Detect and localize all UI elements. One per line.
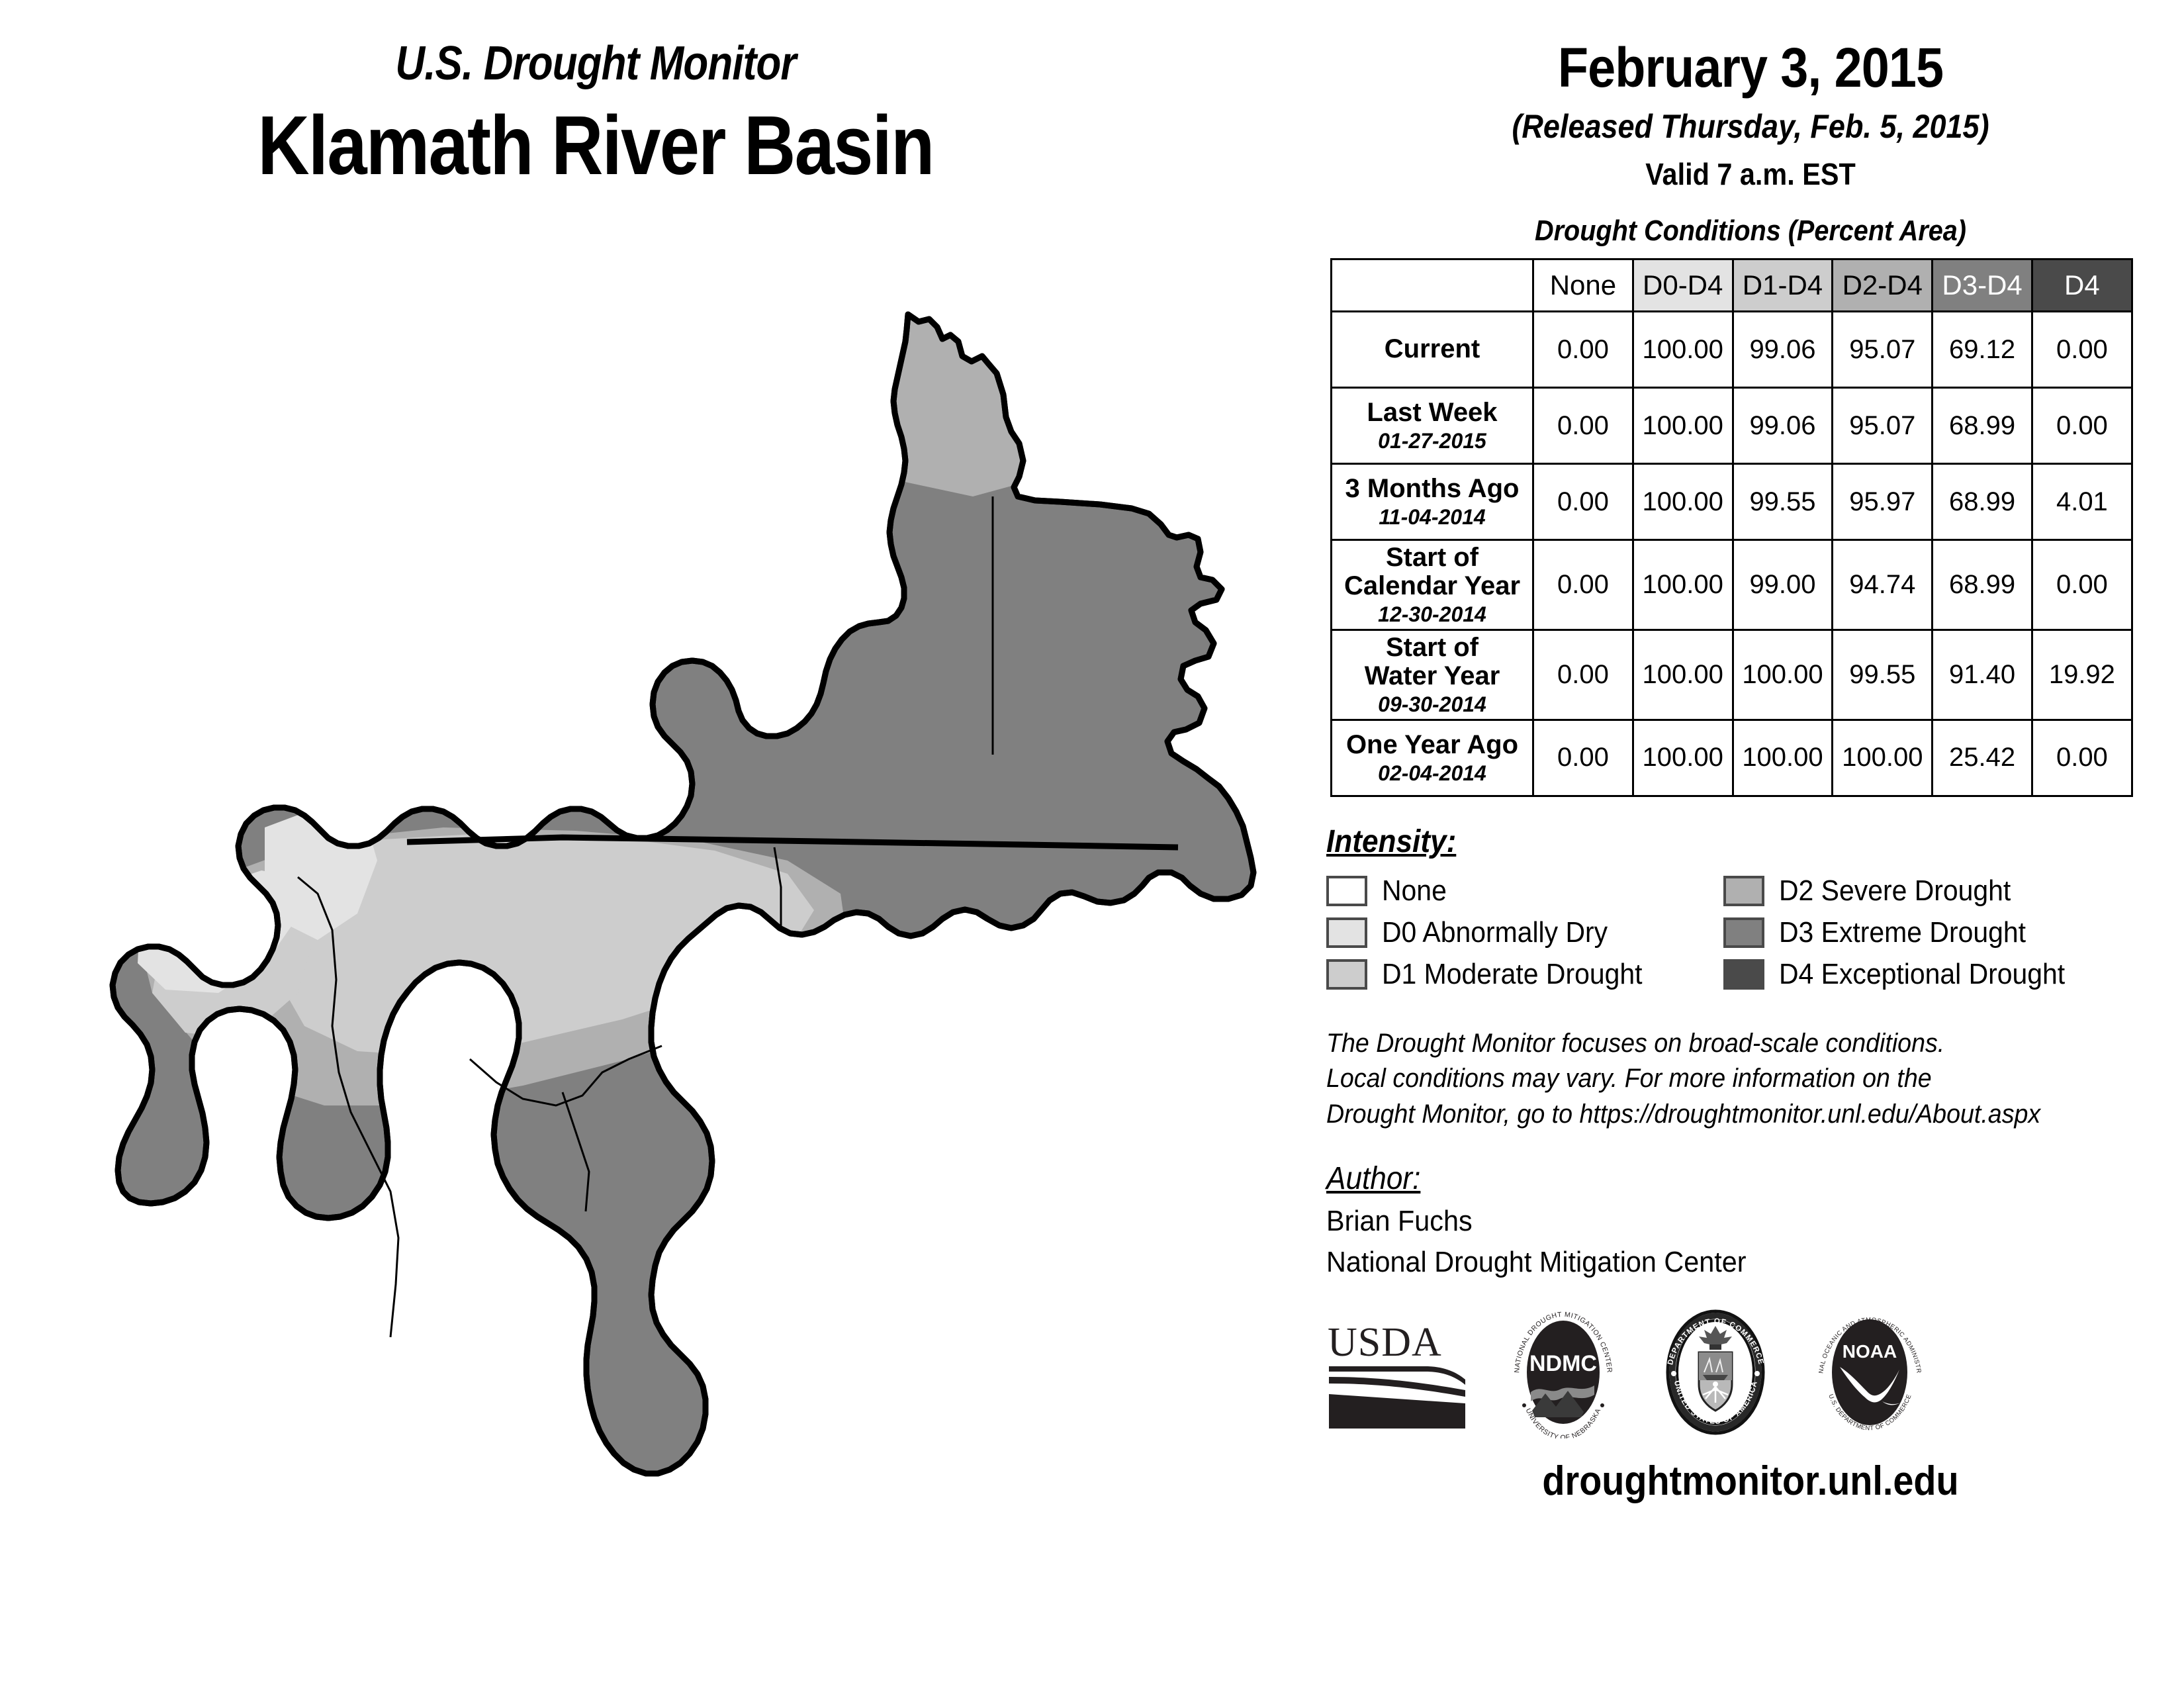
legend-swatch-d1-icon xyxy=(1326,959,1367,990)
date-block: February 3, 2015 (Released Thursday, Feb… xyxy=(1317,0,2184,189)
map-zone-d2-north xyxy=(748,308,1026,457)
table-cell-value: 68.99 xyxy=(1933,540,2032,630)
table-cell-value: 19.92 xyxy=(2032,630,2132,720)
table-cell-value: 0.00 xyxy=(1533,630,1633,720)
legend-label-none: None xyxy=(1382,874,1447,908)
table-cell-value: 100.00 xyxy=(1733,720,1833,796)
table-cell-value: 95.07 xyxy=(1833,388,1933,464)
basin-map-svg xyxy=(99,278,1310,1489)
legend-item-d4: D4 Exceptional Drought xyxy=(1723,958,2180,991)
disclaimer-line-3: Drought Monitor, go to https://droughtmo… xyxy=(1326,1097,2132,1133)
right-panel: February 3, 2015 (Released Thursday, Feb… xyxy=(1317,0,2184,1688)
table-row-date: 02-04-2014 xyxy=(1332,762,1532,785)
table-cell-value: 0.00 xyxy=(1533,720,1633,796)
legend-label-d4: D4 Exceptional Drought xyxy=(1779,958,2065,991)
table-row: One Year Ago02-04-20140.00100.00100.0010… xyxy=(1332,720,2132,796)
table-cell-value: 100.00 xyxy=(1633,540,1733,630)
legend-item-d3: D3 Extreme Drought xyxy=(1723,916,2180,949)
table-cell-value: 100.00 xyxy=(1633,720,1733,796)
column-header-d4: D4 xyxy=(2032,259,2132,312)
column-header-d1-d4: D1-D4 xyxy=(1733,259,1833,312)
table-cell-value: 25.42 xyxy=(1933,720,2032,796)
table-cell-value: 0.00 xyxy=(1533,312,1633,388)
table-row-date: 11-04-2014 xyxy=(1332,506,1532,529)
table-row: Start ofWater Year09-30-20140.00100.0010… xyxy=(1332,630,2132,720)
table-cell-value: 68.99 xyxy=(1933,464,2032,540)
legend-item-d2: D2 Severe Drought xyxy=(1723,874,2180,908)
table-cell-value: 69.12 xyxy=(1933,312,2032,388)
header-spacer xyxy=(1332,259,1533,312)
map-subtitle: U.S. Drought Monitor xyxy=(83,40,1108,87)
table-row-label: Current xyxy=(1332,312,1533,388)
table-row-date: 01-27-2015 xyxy=(1332,430,1532,453)
table-cell-value: 0.00 xyxy=(1533,540,1633,630)
table-cell-value: 0.00 xyxy=(1533,388,1633,464)
table-row-date: 09-30-2014 xyxy=(1332,693,1532,716)
released-date: (Released Thursday, Feb. 5, 2015) xyxy=(1361,110,2141,143)
author-organization: National Drought Mitigation Center xyxy=(1326,1246,2132,1279)
table-row: 3 Months Ago11-04-20140.00100.0099.5595.… xyxy=(1332,464,2132,540)
table-cell-value: 99.00 xyxy=(1733,540,1833,630)
legend-item-d1: D1 Moderate Drought xyxy=(1326,958,1723,991)
column-header-d3-d4: D3-D4 xyxy=(1933,259,2032,312)
intensity-legend-title: Intensity: xyxy=(1326,823,1456,860)
legend-swatch-d4-icon xyxy=(1723,959,1764,990)
table-row-label: Start ofWater Year09-30-2014 xyxy=(1332,630,1533,720)
drought-conditions-table: None D0-D4 D1-D4 D2-D4 D3-D4 D4 Current0… xyxy=(1330,258,2133,797)
table-cell-value: 100.00 xyxy=(1833,720,1933,796)
table-cell-value: 4.01 xyxy=(2032,464,2132,540)
table-cell-value: 99.55 xyxy=(1833,630,1933,720)
column-header-d0-d4: D0-D4 xyxy=(1633,259,1733,312)
table-cell-value: 100.00 xyxy=(1633,312,1733,388)
table-cell-value: 100.00 xyxy=(1633,464,1733,540)
table-cell-value: 99.06 xyxy=(1733,388,1833,464)
table-cell-value: 94.74 xyxy=(1833,540,1933,630)
svg-text:NOAA: NOAA xyxy=(1843,1341,1897,1362)
table-cell-value: 100.00 xyxy=(1633,630,1733,720)
noaa-logo: NATIONAL OCEANIC AND ATMOSPHERIC ADMINIS… xyxy=(1812,1306,1928,1442)
klamath-river-basin-map xyxy=(99,278,1310,1489)
legend-swatch-none-icon xyxy=(1326,876,1367,906)
author-heading: Author: xyxy=(1326,1160,1420,1197)
disclaimer-line-1: The Drought Monitor focuses on broad-sca… xyxy=(1326,1026,2132,1062)
table-header-row: None D0-D4 D1-D4 D2-D4 D3-D4 D4 xyxy=(1332,259,2132,312)
legend-swatch-d0-icon xyxy=(1326,917,1367,948)
table-row-date: 12-30-2014 xyxy=(1332,603,1532,626)
table-cell-value: 100.00 xyxy=(1733,630,1833,720)
table-cell-value: 95.97 xyxy=(1833,464,1933,540)
disclaimer-line-2: Local conditions may vary. For more info… xyxy=(1326,1061,2132,1097)
svg-text:USDA: USDA xyxy=(1328,1320,1442,1365)
legend-label-d3: D3 Extreme Drought xyxy=(1779,916,2026,949)
agency-logos: USDA NATIONAL DROUGHT MITIGATION CENTER … xyxy=(1317,1308,2184,1440)
table-row: Start ofCalendar Year12-30-20140.00100.0… xyxy=(1332,540,2132,630)
valid-time: Valid 7 a.m. EST xyxy=(1361,159,2141,189)
table-cell-value: 95.07 xyxy=(1833,312,1933,388)
column-header-d2-d4: D2-D4 xyxy=(1833,259,1933,312)
legend-label-d1: D1 Moderate Drought xyxy=(1382,958,1643,991)
author-block: Author: Brian Fuchs National Drought Mit… xyxy=(1317,1160,2184,1279)
release-date: February 3, 2015 xyxy=(1361,40,2141,95)
table-cell-value: 0.00 xyxy=(2032,720,2132,796)
table-row-label: Last Week01-27-2015 xyxy=(1332,388,1533,464)
intensity-legend: Intensity: None D2 Severe Drought D0 Abn… xyxy=(1317,823,2184,996)
table-row-label: 3 Months Ago11-04-2014 xyxy=(1332,464,1533,540)
ndmc-logo: NATIONAL DROUGHT MITIGATION CENTER UNIVE… xyxy=(1507,1306,1619,1442)
legend-label-d2: D2 Severe Drought xyxy=(1779,874,2011,908)
table-cell-value: 0.00 xyxy=(2032,388,2132,464)
table-row-label: One Year Ago02-04-2014 xyxy=(1332,720,1533,796)
legend-label-d0: D0 Abnormally Dry xyxy=(1382,916,1608,949)
table-cell-value: 0.00 xyxy=(2032,540,2132,630)
column-header-none: None xyxy=(1533,259,1633,312)
legend-swatch-d2-icon xyxy=(1723,876,1764,906)
svg-text:NDMC: NDMC xyxy=(1529,1351,1597,1376)
disclaimer-text: The Drought Monitor focuses on broad-sca… xyxy=(1317,1026,2184,1133)
legend-item-none: None xyxy=(1326,874,1723,908)
table-cell-value: 99.55 xyxy=(1733,464,1833,540)
intensity-legend-grid: None D2 Severe Drought D0 Abnormally Dry… xyxy=(1326,870,2184,996)
drought-conditions-table-body: Current0.00100.0099.0695.0769.120.00Last… xyxy=(1332,312,2132,796)
usda-logo: USDA xyxy=(1326,1315,1469,1434)
table-cell-value: 100.00 xyxy=(1633,388,1733,464)
table-caption: Drought Conditions (Percent Area) xyxy=(1361,214,2141,248)
left-title-block: U.S. Drought Monitor Klamath River Basin xyxy=(0,40,1191,189)
table-row: Current0.00100.0099.0695.0769.120.00 xyxy=(1332,312,2132,388)
table-row-label: Start ofCalendar Year12-30-2014 xyxy=(1332,540,1533,630)
author-name: Brian Fuchs xyxy=(1326,1205,2132,1238)
table-cell-value: 0.00 xyxy=(2032,312,2132,388)
table-cell-value: 99.06 xyxy=(1733,312,1833,388)
table-cell-value: 91.40 xyxy=(1933,630,2032,720)
legend-swatch-d3-icon xyxy=(1723,917,1764,948)
doc-seal: DEPARTMENT OF COMMERCE UNITED STATES OF … xyxy=(1658,1306,1774,1442)
table-cell-value: 0.00 xyxy=(1533,464,1633,540)
footer-url[interactable]: droughtmonitor.unl.edu xyxy=(1361,1458,2141,1505)
page-title: Klamath River Basin xyxy=(83,102,1108,189)
table-row: Last Week01-27-20150.00100.0099.0695.076… xyxy=(1332,388,2132,464)
table-cell-value: 68.99 xyxy=(1933,388,2032,464)
drought-conditions-table-holder: None D0-D4 D1-D4 D2-D4 D3-D4 D4 Current0… xyxy=(1317,258,2184,797)
legend-item-d0: D0 Abnormally Dry xyxy=(1326,916,1723,949)
